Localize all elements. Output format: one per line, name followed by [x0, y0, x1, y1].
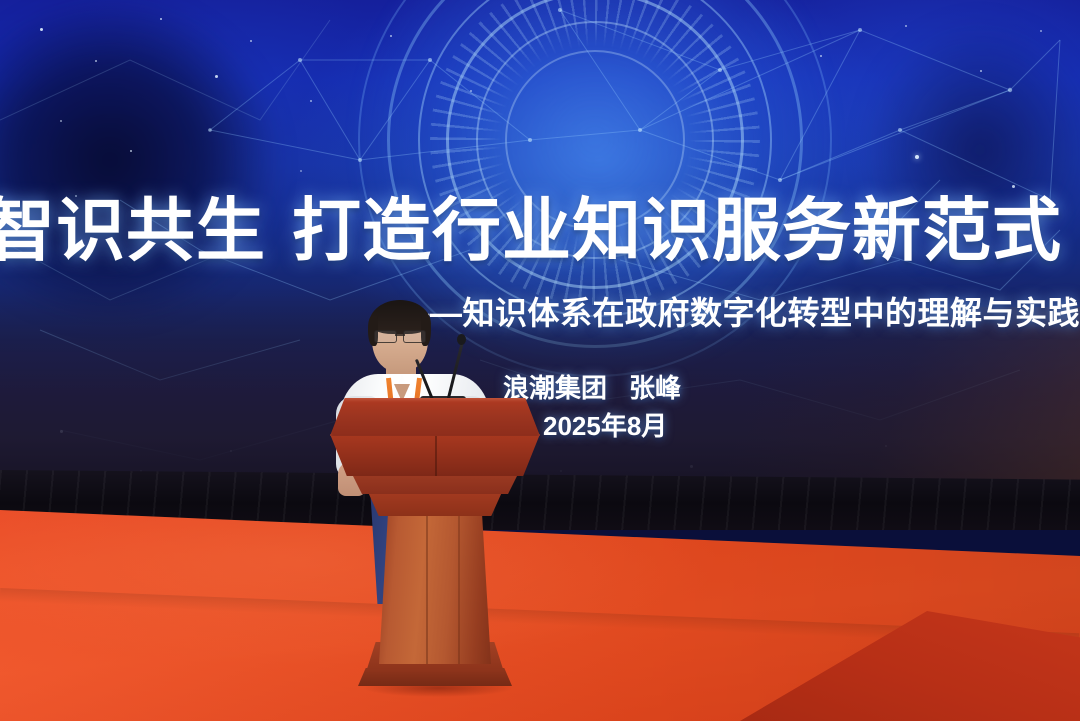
- glasses-lens-right: [403, 330, 426, 343]
- star-point: [390, 35, 392, 37]
- star-point: [95, 60, 97, 62]
- conference-photo: 智识共生打造行业知识服务新范式 ——知识体系在政府数字化转型中的理解与实践 浪潮…: [0, 0, 1080, 721]
- glasses-lens-left: [374, 330, 397, 343]
- podium-desktop: [330, 398, 540, 436]
- star-point: [470, 90, 472, 92]
- slide-title-part1: 智识共生: [0, 192, 266, 269]
- podium-column-seam-2: [458, 514, 460, 664]
- wooden-podium: [330, 398, 540, 688]
- star-point: [1012, 185, 1015, 188]
- slide-date: 2025年8月: [543, 406, 667, 443]
- stage-carpet: [0, 500, 1080, 721]
- podium-neck: [368, 492, 502, 516]
- star-point: [300, 170, 302, 172]
- slide-title-part2: 打造行业知识服务新范式: [292, 192, 1062, 269]
- presenter-name: 张峰: [629, 373, 681, 403]
- podium-lip: [352, 474, 518, 494]
- star-point: [215, 75, 218, 78]
- star-point: [980, 70, 982, 72]
- star-point: [1040, 30, 1042, 32]
- podium-face-seam: [435, 434, 437, 476]
- slide-title: 智识共生打造行业知识服务新范式: [0, 196, 1080, 265]
- star-point: [60, 120, 62, 122]
- star-point: [160, 18, 162, 20]
- star-point: [820, 55, 822, 57]
- glasses-icon: [374, 330, 426, 341]
- screen-warm-glow: [660, 307, 1080, 497]
- star-point: [130, 150, 132, 152]
- podium-column-seam: [426, 514, 428, 664]
- star-point: [905, 25, 907, 27]
- star-point: [40, 28, 43, 31]
- star-point: [250, 40, 252, 42]
- glasses-bridge: [395, 334, 405, 336]
- podium-column: [379, 514, 491, 664]
- star-point: [915, 155, 919, 159]
- microphone-capsule: [457, 334, 466, 345]
- star-point: [310, 100, 312, 102]
- led-backdrop-screen: 智识共生打造行业知识服务新范式 ——知识体系在政府数字化转型中的理解与实践 浪潮…: [0, 0, 1080, 497]
